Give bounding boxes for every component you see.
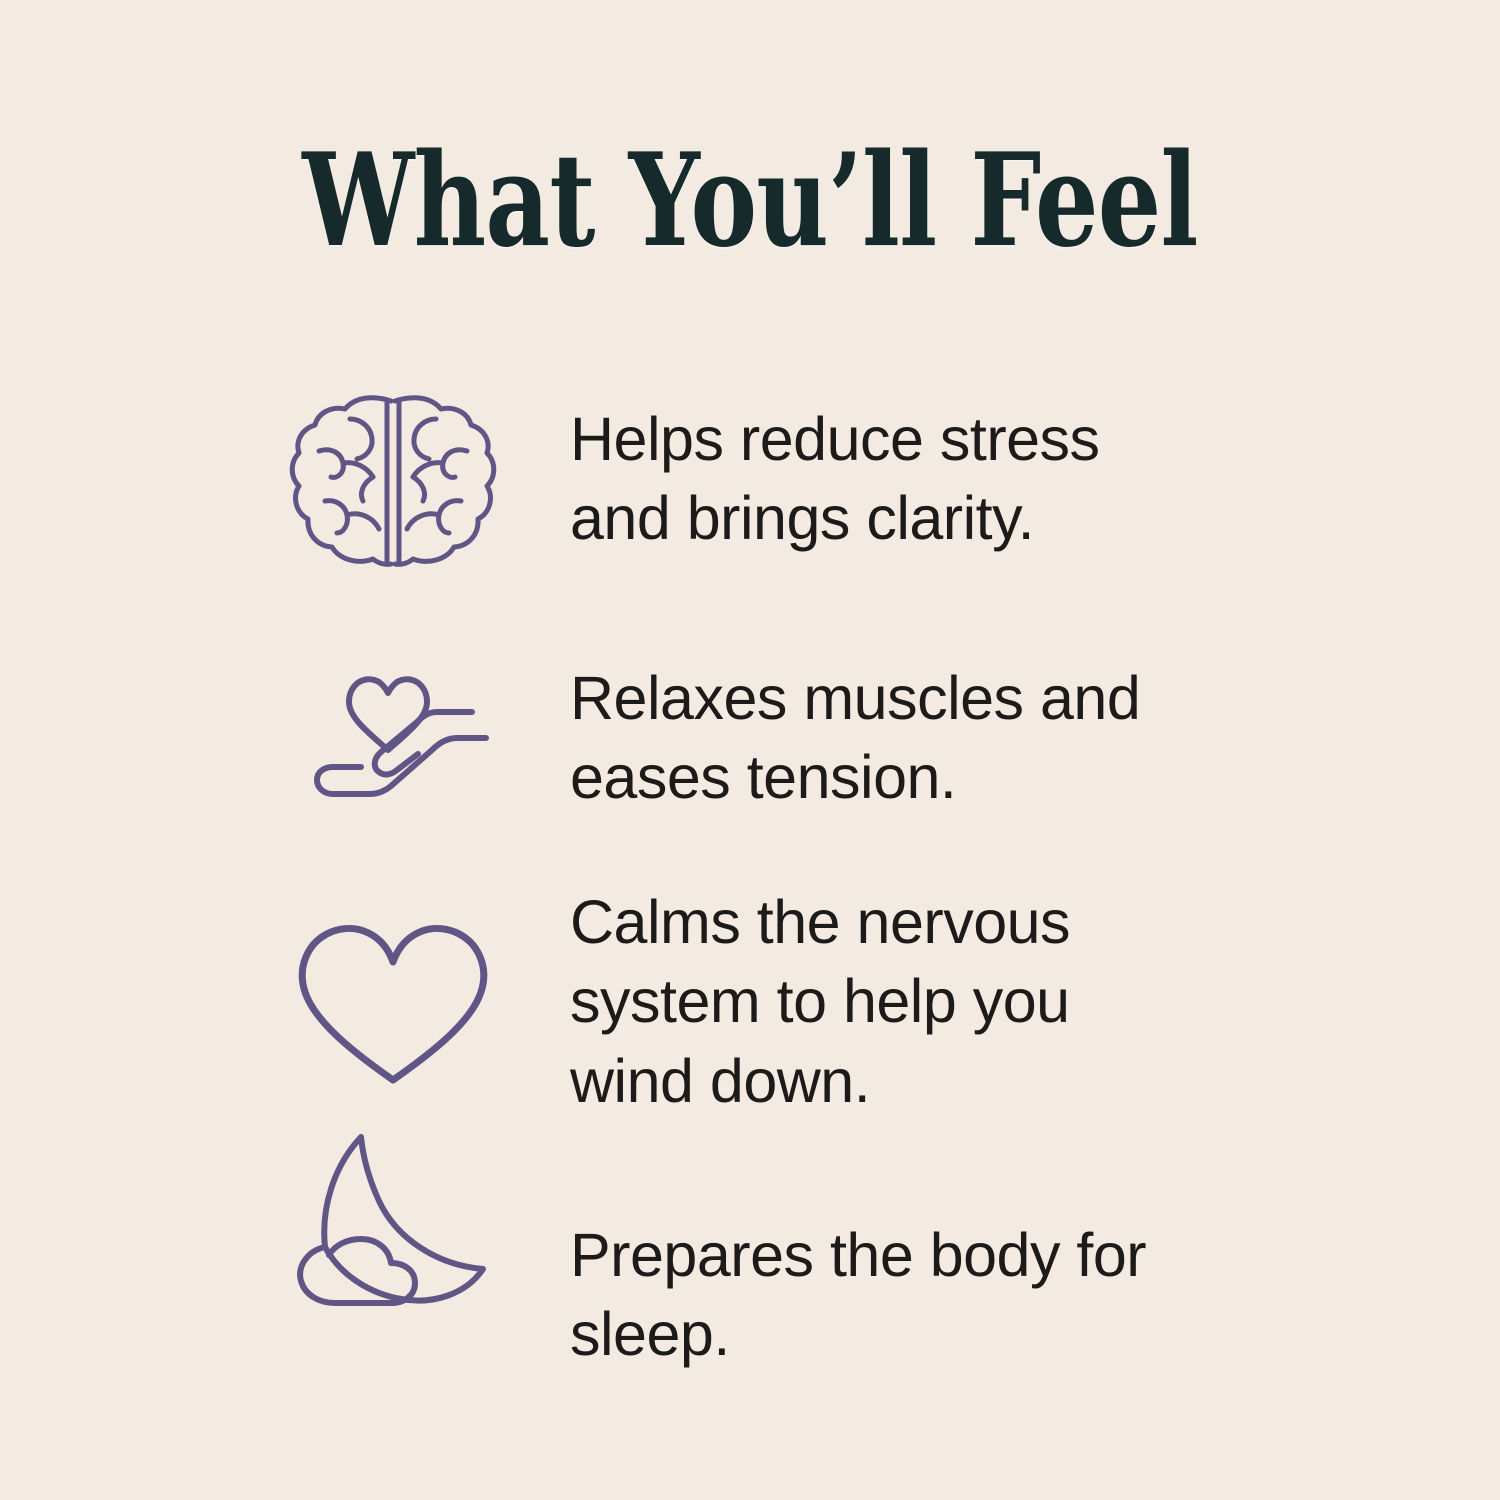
benefit-text-cell: Relaxes muscles and eases tension. — [518, 659, 1298, 818]
benefit-text: Helps reduce stress and brings clarity. — [570, 400, 1298, 559]
benefit-text-cell: Prepares the body for sleep. — [518, 1216, 1298, 1375]
benefits-list: Helps reduce stress and brings clarity. … — [268, 345, 1298, 1391]
benefit-text: Relaxes muscles and eases tension. — [570, 659, 1298, 818]
benefit-icon-cell — [268, 658, 518, 818]
benefit-icon-cell — [268, 1123, 518, 1323]
page-title-wrapper: What You’ll Feel — [0, 136, 1500, 267]
benefit-row-stress: Helps reduce stress and brings clarity. — [268, 345, 1298, 613]
benefit-row-sleep: Prepares the body for sleep. — [268, 1141, 1298, 1391]
poster-canvas: What You’ll Feel — [0, 0, 1500, 1500]
heart-in-hand-icon — [287, 658, 499, 818]
benefit-text-cell: Helps reduce stress and brings clarity. — [518, 400, 1298, 559]
benefit-row-muscles: Relaxes muscles and eases tension. — [268, 613, 1298, 863]
benefit-row-nervous-system: Calms the nervous system to help you win… — [268, 863, 1298, 1141]
benefit-icon-cell — [268, 916, 518, 1088]
heart-icon — [287, 916, 499, 1088]
benefit-text: Calms the nervous system to help you win… — [570, 883, 1298, 1121]
benefit-icon-cell — [268, 389, 518, 569]
page-title: What You’ll Feel — [302, 136, 1197, 267]
moon-cloud-icon — [287, 1123, 499, 1323]
benefit-text-cell: Calms the nervous system to help you win… — [518, 883, 1298, 1121]
benefit-text: Prepares the body for sleep. — [570, 1216, 1298, 1375]
brain-icon — [287, 389, 499, 569]
